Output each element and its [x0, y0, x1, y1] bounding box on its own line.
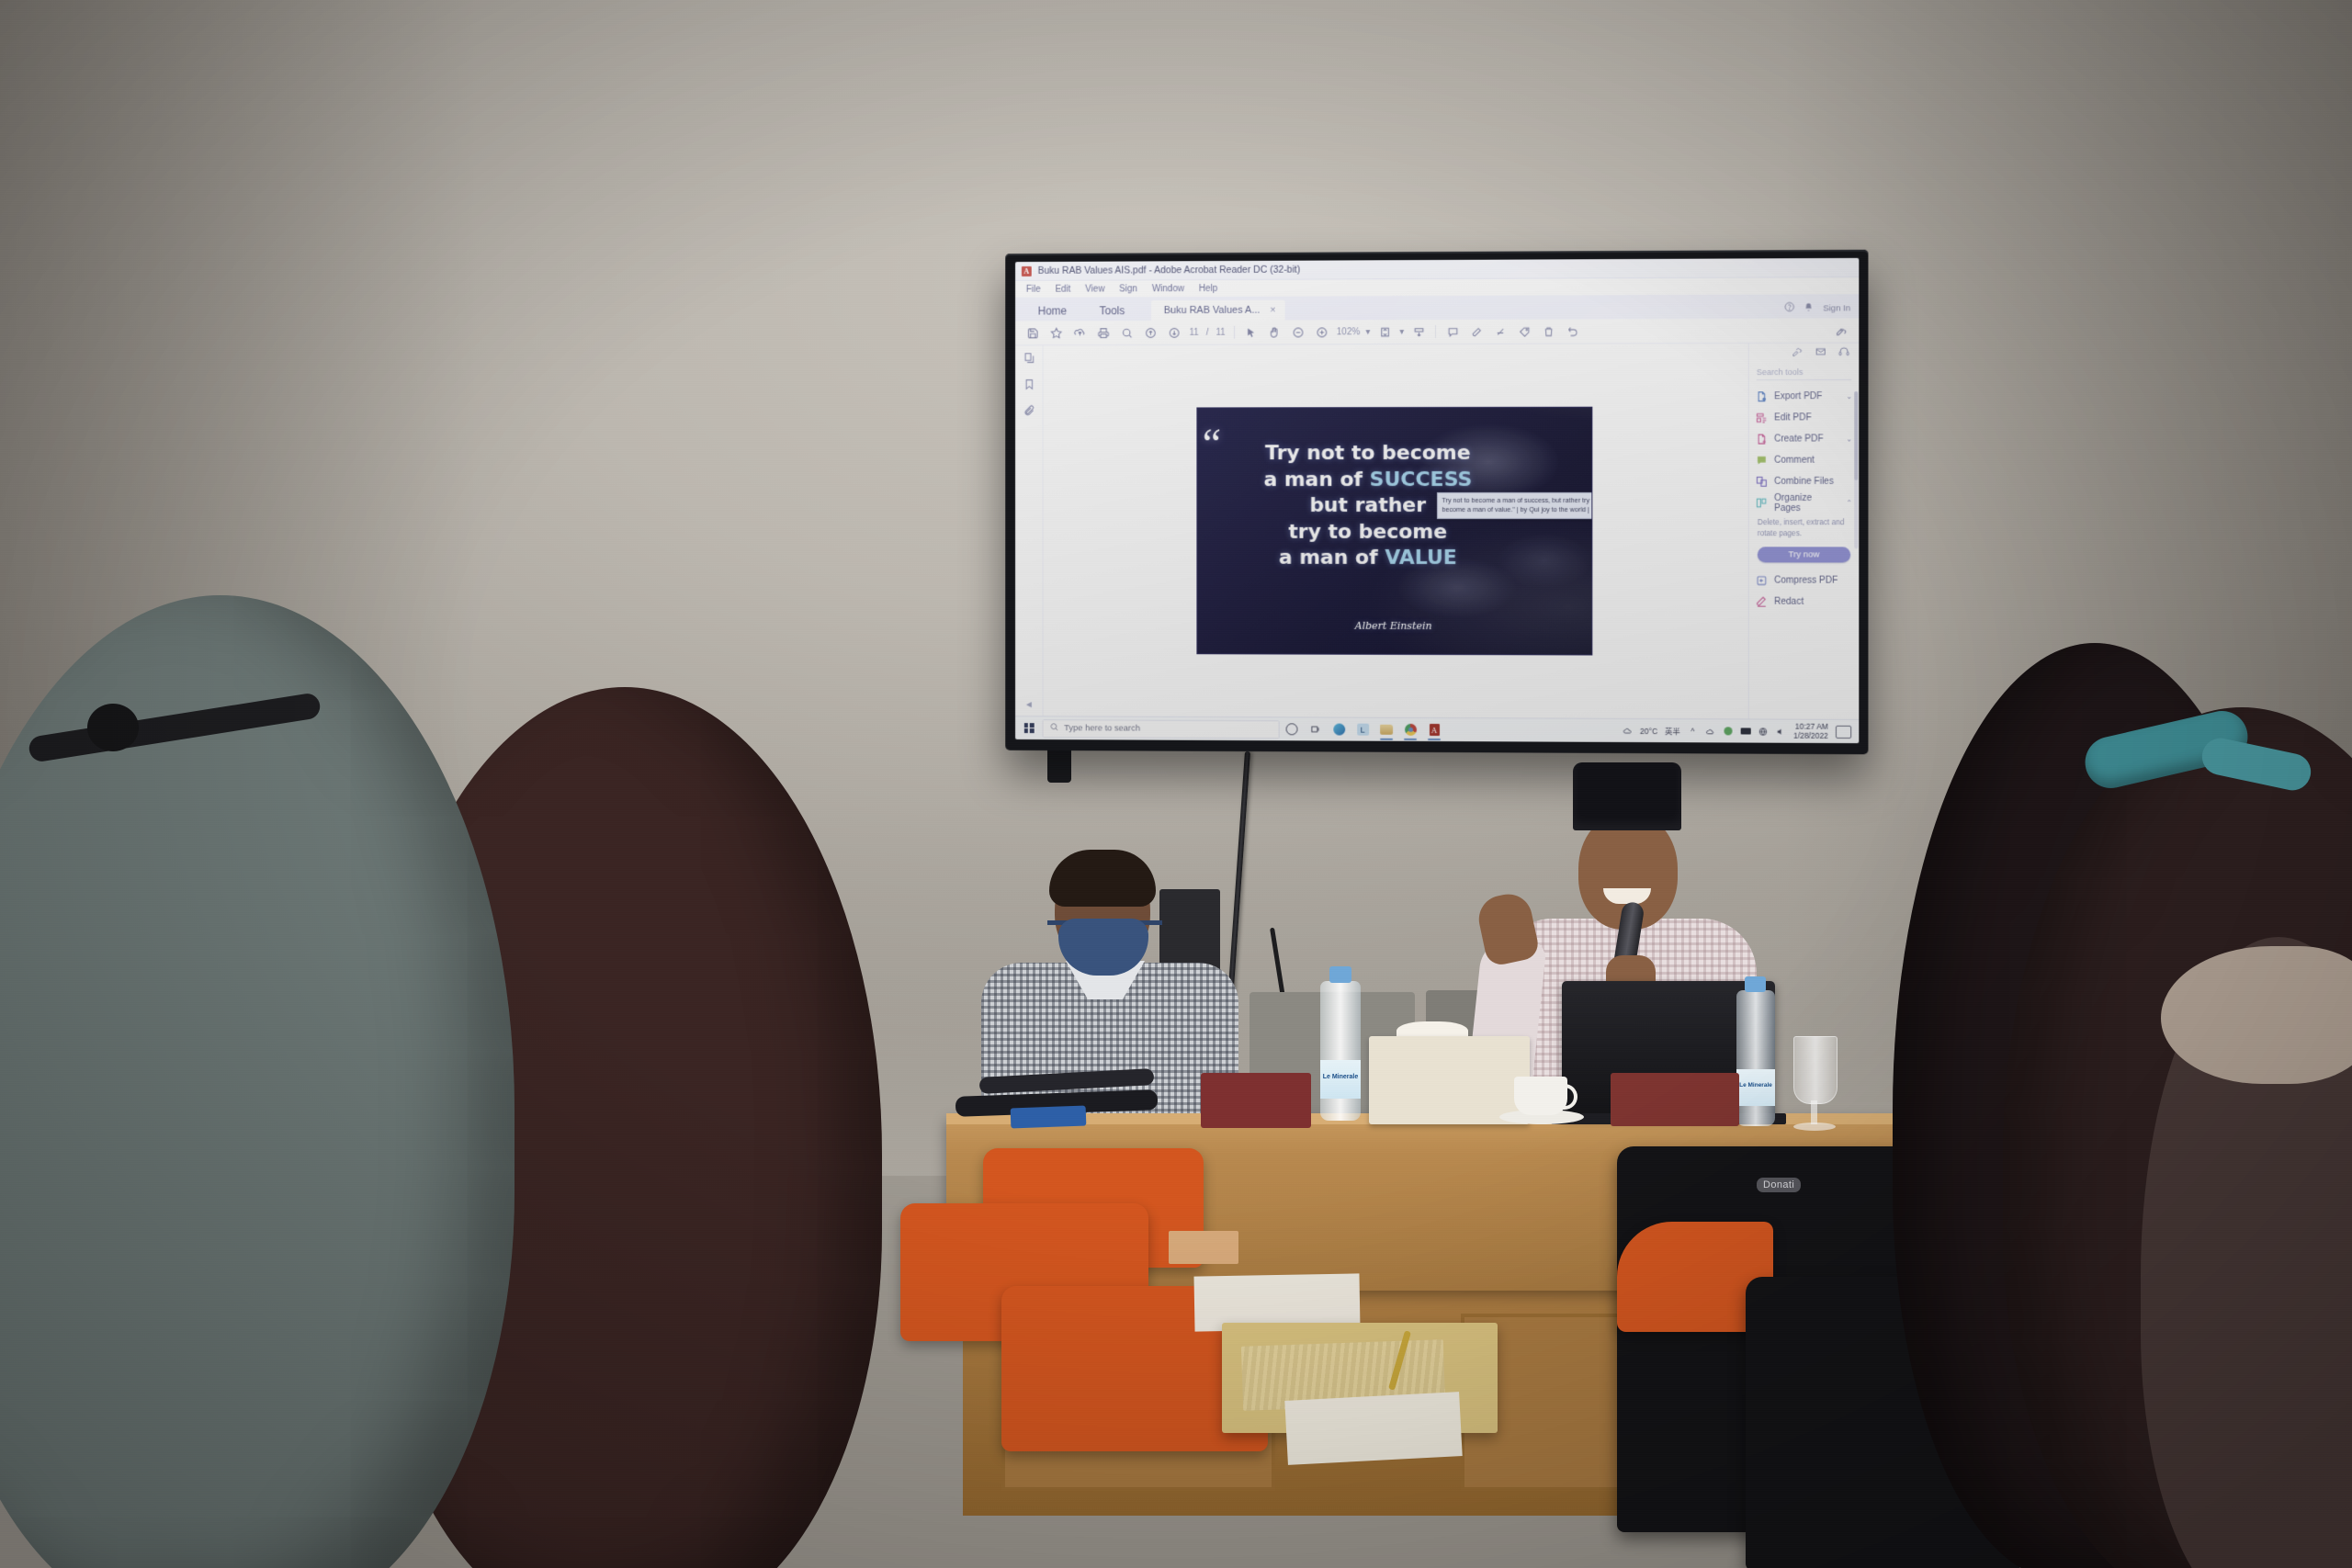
- envelope-icon[interactable]: [1815, 345, 1826, 359]
- edit-pdf-icon: [1756, 412, 1768, 423]
- sign-icon[interactable]: [1792, 345, 1803, 359]
- zoom-in-icon[interactable]: [1310, 322, 1334, 341]
- mobile-phone: [1011, 1106, 1087, 1129]
- page-separator: /: [1203, 327, 1213, 337]
- network-globe-icon[interactable]: [1758, 726, 1769, 736]
- tab-tools[interactable]: Tools: [1084, 300, 1140, 321]
- quote-line-2: a man of SUCCESS: [1217, 468, 1520, 494]
- small-book: [1169, 1231, 1238, 1264]
- menu-item-window[interactable]: Window: [1152, 284, 1184, 294]
- page-thumbnails-icon[interactable]: [1023, 352, 1035, 367]
- right-panel-scrollbar[interactable]: [1854, 391, 1858, 548]
- close-icon[interactable]: ×: [1270, 305, 1275, 316]
- highlight-icon[interactable]: [1464, 322, 1488, 341]
- tool-label: Export PDF: [1774, 391, 1822, 401]
- search-tools-input[interactable]: Search tools: [1757, 365, 1851, 380]
- acrobat-body: ◀ “ Try not to become a man of SUCCESS b…: [1015, 344, 1859, 719]
- task-view-icon[interactable]: [1303, 717, 1327, 740]
- tool-label: Redact: [1774, 596, 1804, 606]
- tool-combine-files[interactable]: Combine Files: [1749, 471, 1860, 492]
- ime-icon[interactable]: 英半: [1665, 726, 1680, 737]
- seated-man-hair: [1049, 850, 1156, 907]
- headset-icon[interactable]: [1838, 345, 1849, 359]
- glass-foot: [1793, 1122, 1836, 1131]
- fit-width-icon[interactable]: [1407, 322, 1430, 341]
- bottle-cap: [1745, 976, 1766, 992]
- taskbar-clock[interactable]: 10:27 AM 1/28/2022: [1793, 722, 1828, 740]
- tv-screen: A Buku RAB Values AIS.pdf - Adobe Acroba…: [1015, 258, 1859, 743]
- windows-taskbar: Type here to search L: [1015, 716, 1859, 743]
- taskbar-search-placeholder: Type here to search: [1064, 723, 1140, 733]
- try-now-button[interactable]: Try now: [1758, 547, 1850, 562]
- page-total: 11: [1212, 327, 1228, 337]
- tools-right-panel: Search tools Export PDF ⌄ Edit PDF: [1748, 344, 1860, 719]
- right-panel-top-icons: [1749, 344, 1860, 362]
- menu-item-view[interactable]: View: [1085, 284, 1104, 294]
- toolbar-divider: [1234, 326, 1235, 339]
- google-chrome-icon[interactable]: [1398, 718, 1422, 741]
- tools-list: Export PDF ⌄ Edit PDF Create PDF ⌄: [1749, 386, 1860, 719]
- bottle-cap: [1329, 966, 1351, 983]
- menu-item-edit[interactable]: Edit: [1055, 284, 1070, 294]
- sign-cloud-icon[interactable]: [1829, 321, 1853, 339]
- delete-icon[interactable]: [1536, 322, 1560, 341]
- tool-edit-pdf[interactable]: Edit PDF: [1749, 407, 1860, 428]
- cortana-circle-icon[interactable]: [1280, 717, 1304, 740]
- window-title: Buku RAB Values AIS.pdf - Adobe Acrobat …: [1038, 265, 1301, 276]
- tool-export-pdf[interactable]: Export PDF ⌄: [1749, 386, 1860, 407]
- action-center-icon[interactable]: [1836, 725, 1851, 738]
- fit-page-icon[interactable]: [1373, 322, 1396, 341]
- compress-pdf-icon: [1756, 574, 1768, 586]
- tool-label: Combine Files: [1774, 477, 1834, 487]
- speaker-peci-cap: [1573, 762, 1681, 830]
- tool-redact[interactable]: Redact: [1749, 591, 1860, 612]
- export-pdf-icon: [1756, 390, 1768, 402]
- fill-sign-icon[interactable]: [1512, 322, 1536, 341]
- tool-label: Edit PDF: [1774, 412, 1812, 423]
- collapse-panel-icon[interactable]: ◀: [1026, 700, 1032, 708]
- tabbar: Home Tools Buku RAB Values A... ×: [1015, 294, 1859, 321]
- tool-compress-pdf[interactable]: Compress PDF: [1749, 570, 1860, 591]
- red-notebook-right: [1611, 1073, 1739, 1126]
- document-tab-label: Buku RAB Values A...: [1164, 305, 1261, 316]
- bookmarks-icon[interactable]: [1023, 378, 1035, 393]
- help-icon[interactable]: [1785, 302, 1795, 315]
- volume-icon[interactable]: [1776, 727, 1786, 737]
- weather-cloud-icon[interactable]: [1623, 726, 1633, 736]
- water-bottle-left: Le Minerale: [1320, 981, 1361, 1121]
- search-icon[interactable]: [1114, 323, 1138, 342]
- toolbar-divider-2: [1435, 325, 1436, 338]
- toolbar: 11 / 11 102% ▾ ▾: [1015, 318, 1859, 345]
- hijab-strap: [28, 692, 322, 763]
- hand-tool-icon[interactable]: [1262, 323, 1286, 342]
- left-navigation-rail: ◀: [1015, 345, 1043, 716]
- upload-icon[interactable]: [1068, 323, 1091, 342]
- windows-start-icon[interactable]: [1015, 723, 1043, 733]
- onedrive-icon[interactable]: [1705, 726, 1715, 736]
- undo-icon[interactable]: [1560, 321, 1584, 340]
- menu-item-file[interactable]: File: [1026, 284, 1041, 294]
- select-tool-icon[interactable]: [1239, 323, 1263, 342]
- chair-brand-badge: Donati: [1757, 1178, 1801, 1192]
- attachments-icon[interactable]: [1023, 405, 1035, 420]
- chevron-down-icon[interactable]: ⌄: [1846, 434, 1852, 443]
- organize-pages-description: Delete, insert, extract and rotate pages…: [1749, 513, 1860, 541]
- zoom-level-value[interactable]: 102%: [1334, 327, 1363, 337]
- chevron-up-icon[interactable]: ⌃: [1846, 499, 1852, 507]
- zoom-out-icon[interactable]: [1286, 322, 1310, 341]
- quote-author: Albert Einstein: [1197, 619, 1591, 632]
- create-pdf-icon: [1756, 434, 1768, 446]
- drinking-glass: [1793, 1036, 1837, 1104]
- highlight-value: VALUE: [1385, 547, 1457, 570]
- battery-icon[interactable]: [1740, 726, 1750, 736]
- redact-icon: [1756, 595, 1768, 607]
- tool-comment[interactable]: Comment: [1749, 450, 1860, 471]
- highlight-success: SUCCESS: [1370, 468, 1473, 491]
- tool-create-pdf[interactable]: Create PDF ⌄: [1749, 428, 1860, 449]
- tool-label: Organize Pages: [1774, 492, 1839, 513]
- bottle-label: Le Minerale: [1736, 1069, 1775, 1106]
- system-tray: 20°C 英半 ^ 10:27 AM 1/28/2022: [1623, 721, 1860, 740]
- microsoft-edge-icon[interactable]: [1327, 718, 1351, 741]
- next-page-icon[interactable]: [1162, 323, 1186, 342]
- chevron-down-icon[interactable]: ⌄: [1846, 392, 1852, 400]
- tool-organize-pages[interactable]: Organize Pages ⌃: [1749, 492, 1860, 513]
- quote-line-4: try to become: [1217, 520, 1520, 547]
- tool-label: Create PDF: [1774, 434, 1823, 444]
- taskbar-search-input[interactable]: Type here to search: [1043, 719, 1280, 739]
- lark-app-icon[interactable]: L: [1351, 718, 1374, 741]
- seminar-room-photo: A Buku RAB Values AIS.pdf - Adobe Acroba…: [0, 0, 2352, 1568]
- adobe-acrobat-icon: A: [1022, 265, 1032, 276]
- previous-page-icon[interactable]: [1138, 323, 1162, 342]
- link-tooltip: Try not to become a man of success, but …: [1436, 492, 1590, 519]
- search-icon: [1049, 722, 1058, 734]
- strikethrough-icon[interactable]: [1488, 322, 1512, 341]
- glass-stem: [1811, 1100, 1817, 1124]
- quote-line-1: Try not to become: [1217, 441, 1520, 468]
- save-icon[interactable]: [1021, 323, 1045, 342]
- sign-in-button[interactable]: Sign In: [1823, 303, 1850, 313]
- tool-label: Compress PDF: [1774, 575, 1837, 585]
- bottle-label: Le Minerale: [1320, 1060, 1361, 1099]
- tool-label: Comment: [1774, 456, 1815, 466]
- comment-icon: [1756, 455, 1768, 467]
- adobe-acrobat-icon[interactable]: A: [1422, 718, 1446, 741]
- tab-home[interactable]: Home: [1023, 300, 1082, 321]
- hijab-knot: [87, 704, 139, 751]
- security-icon[interactable]: [1723, 726, 1733, 736]
- print-icon[interactable]: [1091, 323, 1115, 342]
- tray-temperature[interactable]: 20°C: [1640, 726, 1657, 735]
- quote-line-5: a man of VALUE: [1217, 546, 1520, 572]
- show-hidden-icons-icon[interactable]: ^: [1688, 726, 1698, 736]
- document-tab[interactable]: Buku RAB Values A... ×: [1151, 300, 1285, 321]
- red-notebook-left: [1201, 1073, 1311, 1128]
- coffee-cup: [1514, 1077, 1567, 1115]
- wall-mounted-tv: A Buku RAB Values AIS.pdf - Adobe Acroba…: [1005, 250, 1868, 755]
- star-icon[interactable]: [1045, 323, 1069, 342]
- tissue-box: [1369, 1036, 1530, 1124]
- pdf-slide: “ Try not to become a man of SUCCESS but…: [1197, 408, 1591, 655]
- pdf-document-area[interactable]: “ Try not to become a man of SUCCESS but…: [1044, 344, 1748, 718]
- white-paper: [1284, 1392, 1462, 1465]
- file-explorer-icon[interactable]: [1374, 718, 1398, 741]
- page-current-input[interactable]: 11: [1186, 327, 1203, 337]
- organize-pages-icon: [1756, 497, 1768, 509]
- water-bottle-right: Le Minerale: [1736, 990, 1775, 1126]
- fit-page-caret-icon[interactable]: ▾: [1396, 327, 1407, 337]
- menu-item-sign[interactable]: Sign: [1119, 284, 1137, 294]
- adobe-acrobat-window: A Buku RAB Values AIS.pdf - Adobe Acroba…: [1015, 258, 1859, 743]
- comment-icon[interactable]: [1441, 322, 1464, 341]
- menu-item-help[interactable]: Help: [1199, 283, 1217, 293]
- tv-mount-arm: [1047, 746, 1071, 783]
- chevron-down-icon[interactable]: ▾: [1363, 327, 1373, 337]
- clock-date: 1/28/2022: [1793, 731, 1828, 740]
- bell-icon[interactable]: [1804, 302, 1814, 314]
- combine-files-icon: [1756, 476, 1768, 488]
